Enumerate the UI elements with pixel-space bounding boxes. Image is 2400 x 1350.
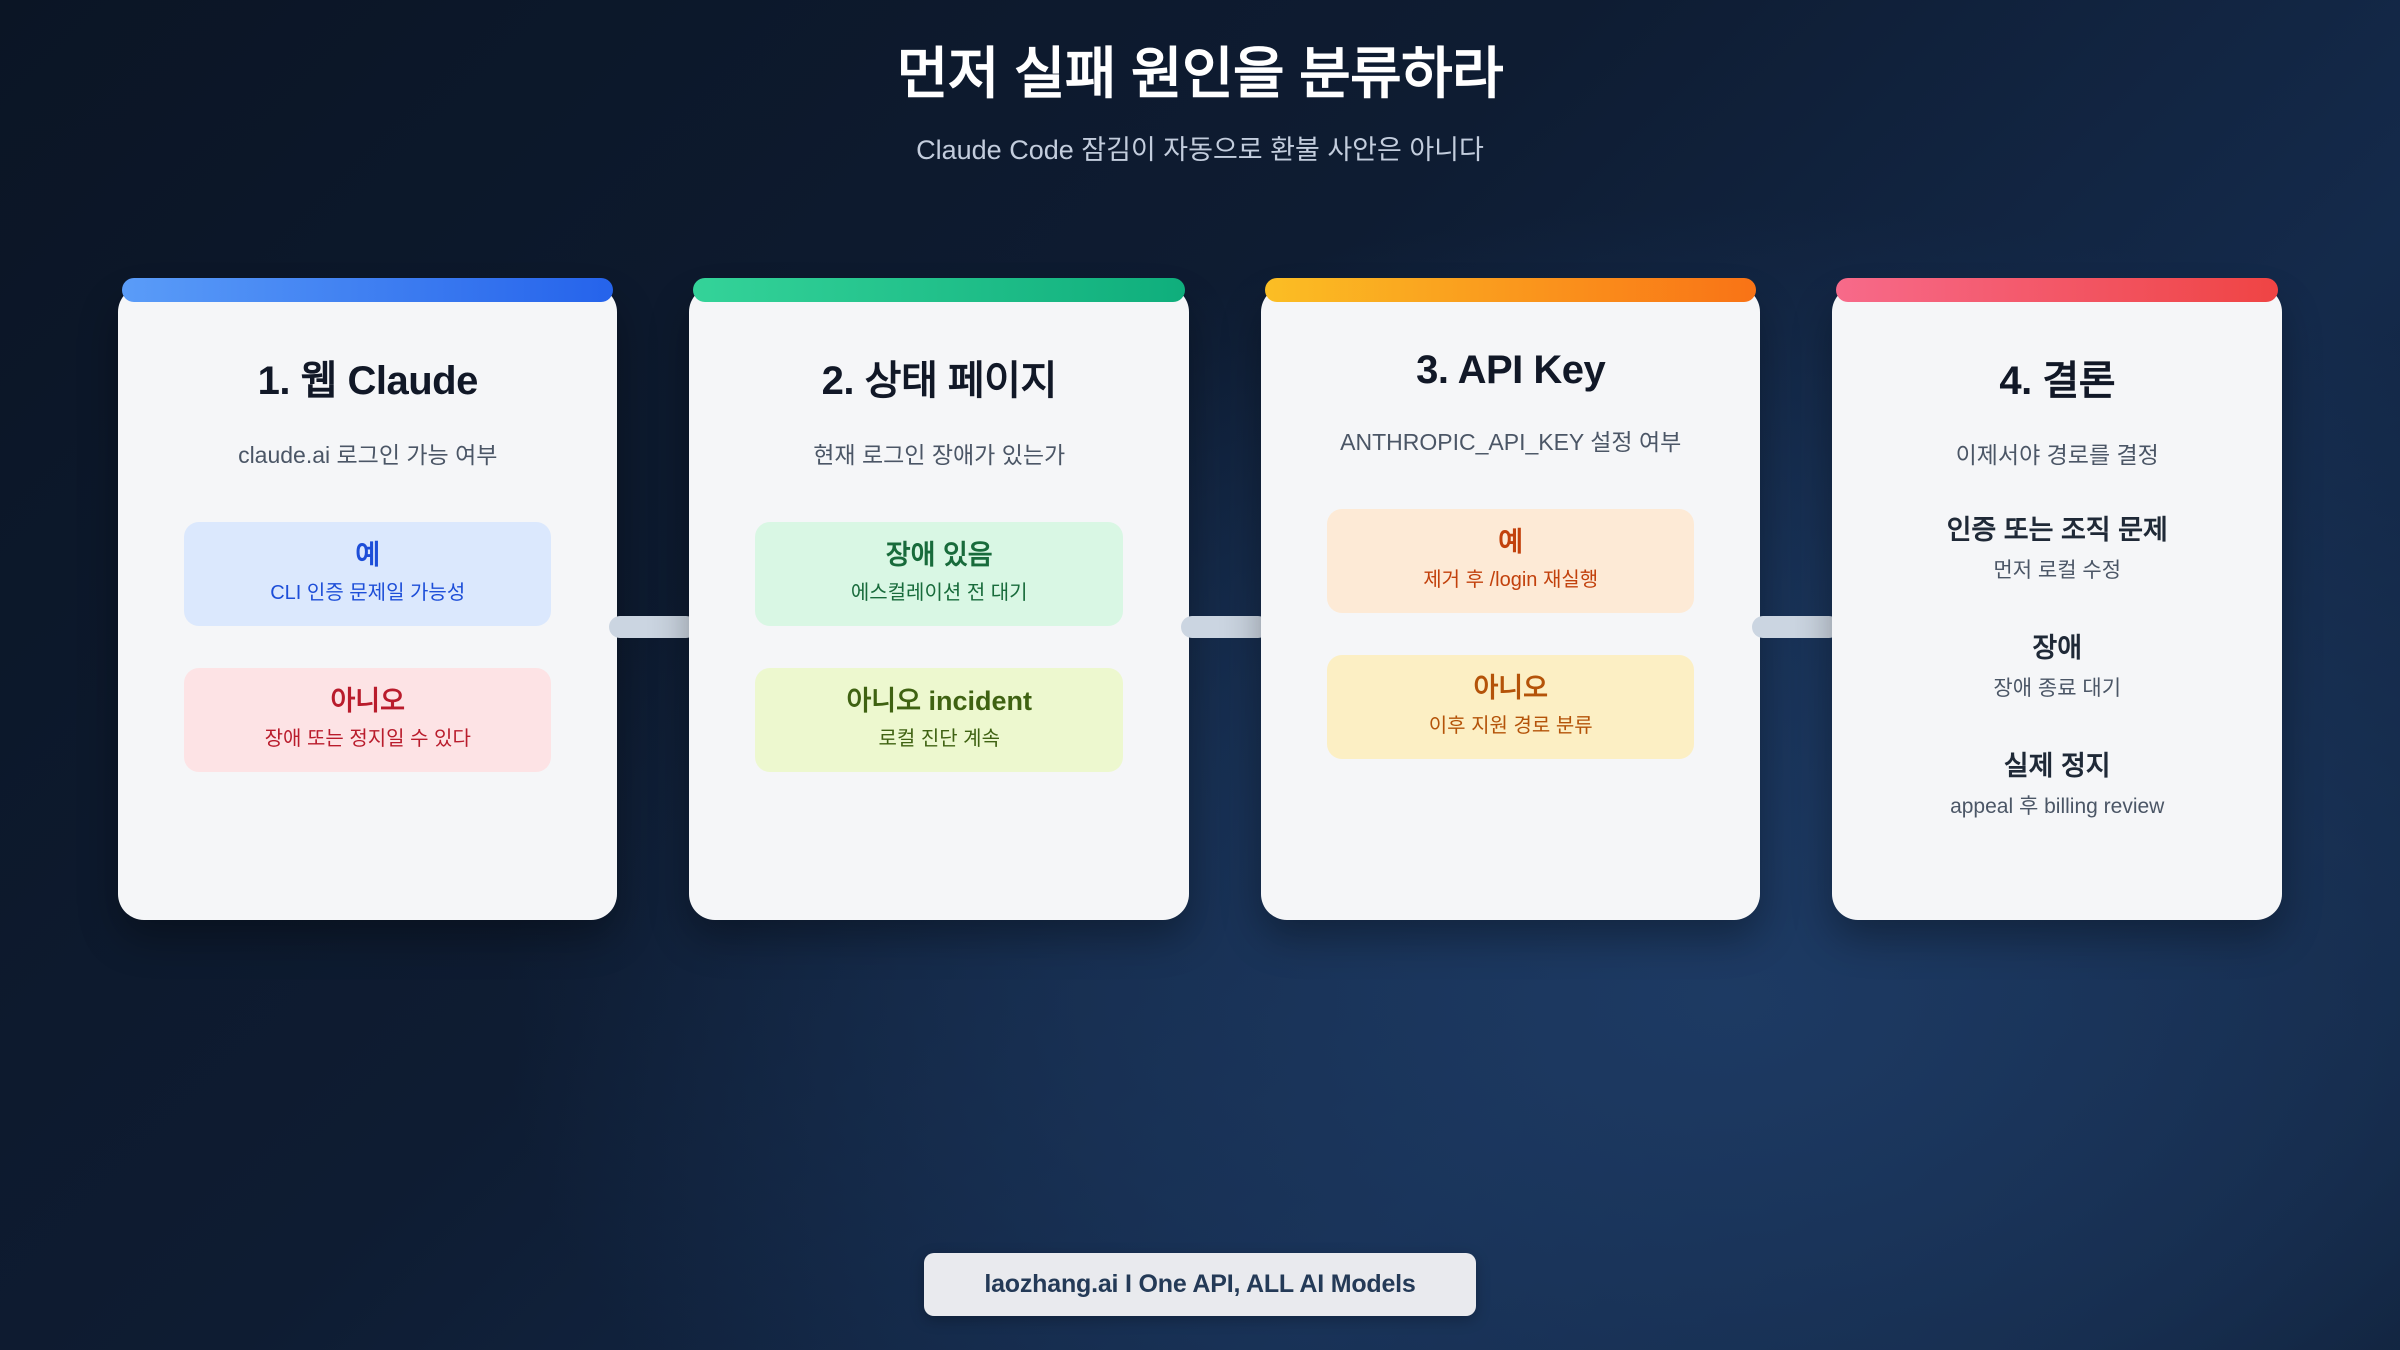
badge-head: 예 (1339, 526, 1682, 560)
badge-sub: 제거 후 /login 재실행 (1339, 567, 1682, 593)
card-accent-bar-orange (1265, 278, 1756, 302)
badge-head: 아니오 incident (767, 685, 1110, 719)
card-status-page[interactable]: 2. 상태 페이지 현재 로그인 장애가 있는가 장애 있음 에스컬레이션 전 … (689, 286, 1188, 920)
connector-line-3-4 (1752, 616, 1840, 638)
connector-line-2-3 (1181, 616, 1269, 638)
outcome-head: 인증 또는 조직 문제 (1860, 514, 2254, 548)
card-api-key[interactable]: 3. API Key ANTHROPIC_API_KEY 설정 여부 예 제거 … (1261, 286, 1760, 920)
outcome-incident: 장애 장애 종료 대기 (1860, 632, 2254, 702)
page-footer: laozhang.ai I One API, ALL AI Models (0, 1253, 2400, 1316)
footer-brand-badge[interactable]: laozhang.ai I One API, ALL AI Models (924, 1253, 1475, 1316)
badge-list: 예 CLI 인증 문제일 가능성 아니오 장애 또는 정지일 수 있다 (118, 522, 617, 772)
decision-flow-board: 1. 웹 Claude claude.ai 로그인 가능 여부 예 CLI 인증… (118, 286, 2282, 926)
outcome-sub: 먼저 로컬 수정 (1860, 557, 2254, 584)
card-subtitle: 이제서야 경로를 결정 (1832, 436, 2282, 470)
card-accent-bar-blue (122, 278, 613, 302)
outcome-head: 장애 (1860, 632, 2254, 666)
badge-list: 장애 있음 에스컬레이션 전 대기 아니오 incident 로컬 진단 계속 (689, 522, 1188, 772)
badge-sub: 장애 또는 정지일 수 있다 (196, 726, 539, 752)
card-accent-bar-red (1836, 278, 2278, 302)
page-subtitle: Claude Code 잠김이 자동으로 환불 사안은 아니다 (0, 128, 2400, 167)
badge-incident-present[interactable]: 장애 있음 에스컬레이션 전 대기 (755, 522, 1122, 626)
card-subtitle: 현재 로그인 장애가 있는가 (689, 436, 1188, 470)
page-header: 먼저 실패 원인을 분류하라 Claude Code 잠김이 자동으로 환불 사… (0, 0, 2400, 167)
badge-no[interactable]: 아니오 장애 또는 정지일 수 있다 (184, 668, 551, 772)
outcome-list: 인증 또는 조직 문제 먼저 로컬 수정 장애 장애 종료 대기 실제 정지 a… (1832, 514, 2282, 820)
card-accent-bar-green (693, 278, 1184, 302)
connector-line-1-2 (609, 616, 697, 638)
card-subtitle: ANTHROPIC_API_KEY 설정 여부 (1261, 423, 1760, 457)
outcome-sub: 장애 종료 대기 (1860, 675, 2254, 702)
badge-list: 예 제거 후 /login 재실행 아니오 이후 지원 경로 분류 (1261, 509, 1760, 759)
card-title: 2. 상태 페이지 (689, 348, 1188, 406)
page-title: 먼저 실패 원인을 분류하라 (0, 42, 2400, 106)
badge-no-incident[interactable]: 아니오 incident 로컬 진단 계속 (755, 668, 1122, 772)
flow-step-2: 2. 상태 페이지 현재 로그인 장애가 있는가 장애 있음 에스컬레이션 전 … (689, 286, 1188, 920)
card-title: 1. 웹 Claude (118, 348, 617, 406)
outcome-sub: appeal 후 billing review (1860, 793, 2254, 820)
badge-sub: 에스컬레이션 전 대기 (767, 580, 1110, 606)
badge-no[interactable]: 아니오 이후 지원 경로 분류 (1327, 655, 1694, 759)
badge-sub: 이후 지원 경로 분류 (1339, 713, 1682, 739)
badge-head: 아니오 (196, 685, 539, 719)
flow-step-3: 3. API Key ANTHROPIC_API_KEY 설정 여부 예 제거 … (1261, 286, 1760, 920)
outcome-head: 실제 정지 (1860, 750, 2254, 784)
badge-sub: CLI 인증 문제일 가능성 (196, 580, 539, 606)
outcome-auth-or-org: 인증 또는 조직 문제 먼저 로컬 수정 (1860, 514, 2254, 584)
card-title: 4. 결론 (1832, 348, 2282, 406)
flow-step-1: 1. 웹 Claude claude.ai 로그인 가능 여부 예 CLI 인증… (118, 286, 617, 920)
badge-yes[interactable]: 예 제거 후 /login 재실행 (1327, 509, 1694, 613)
badge-head: 예 (196, 539, 539, 573)
outcome-suspension: 실제 정지 appeal 후 billing review (1860, 750, 2254, 820)
card-subtitle: claude.ai 로그인 가능 여부 (118, 436, 617, 470)
card-conclusion[interactable]: 4. 결론 이제서야 경로를 결정 인증 또는 조직 문제 먼저 로컬 수정 장… (1832, 286, 2282, 920)
badge-head: 장애 있음 (767, 539, 1110, 573)
badge-yes[interactable]: 예 CLI 인증 문제일 가능성 (184, 522, 551, 626)
badge-sub: 로컬 진단 계속 (767, 726, 1110, 752)
flow-step-4: 4. 결론 이제서야 경로를 결정 인증 또는 조직 문제 먼저 로컬 수정 장… (1832, 286, 2282, 920)
badge-head: 아니오 (1339, 672, 1682, 706)
card-web-claude[interactable]: 1. 웹 Claude claude.ai 로그인 가능 여부 예 CLI 인증… (118, 286, 617, 920)
card-title: 3. API Key (1261, 348, 1760, 393)
